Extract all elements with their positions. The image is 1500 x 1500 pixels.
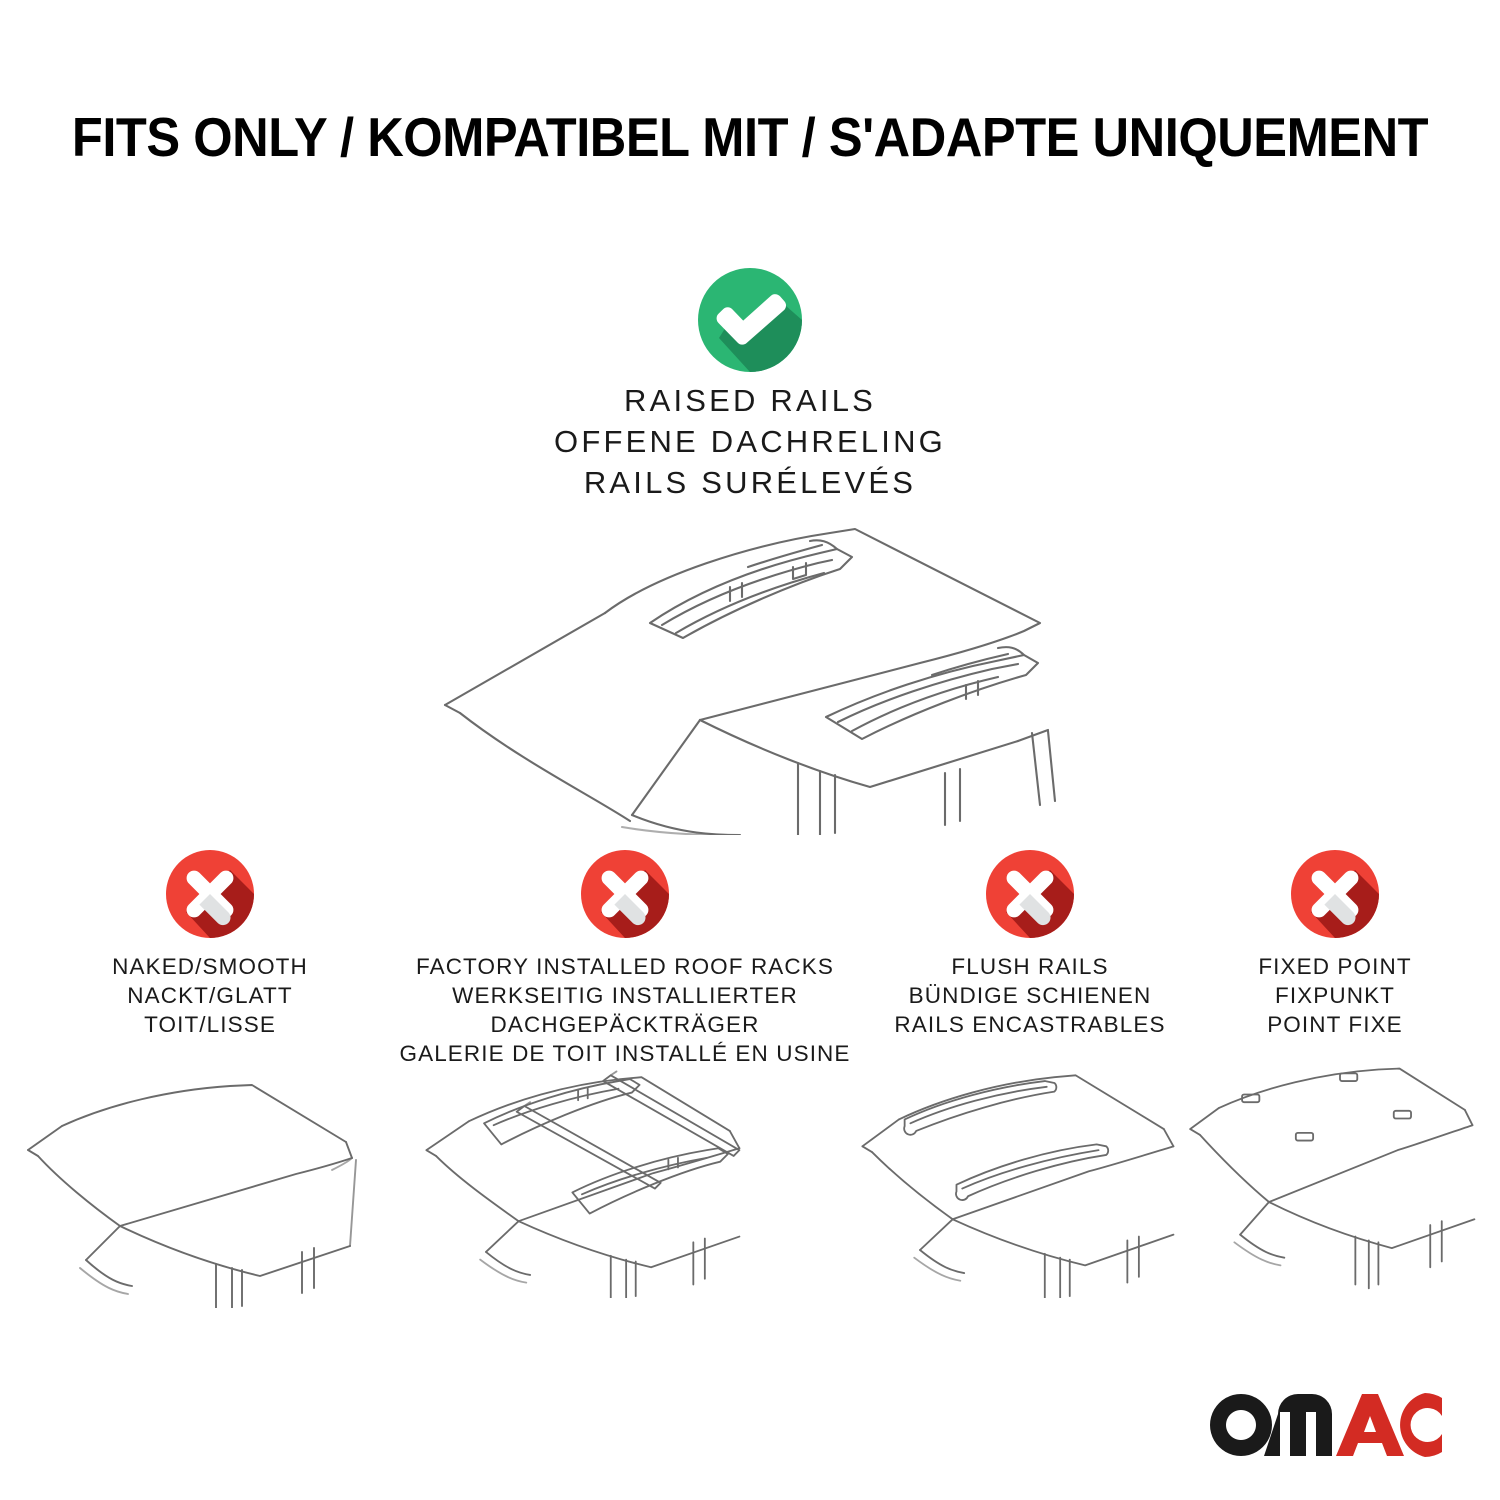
compatible-label: RAISED RAILS OFFENE DACHRELING RAILS SUR… — [0, 380, 1500, 503]
cross-circle-icon — [984, 848, 1076, 940]
compatible-label-line-2: OFFENE DACHRELING — [0, 421, 1500, 462]
option-label-fixed-point: FIXED POINT FIXPUNKT POINT FIXE — [1190, 952, 1480, 1039]
cross-circle-icon — [1289, 848, 1381, 940]
incompatible-option-factory-roof-racks: FACTORY INSTALLED ROOF RACKS WERKSEITIG … — [395, 848, 855, 1068]
incompatible-option-fixed-point: FIXED POINT FIXPUNKT POINT FIXE — [1190, 848, 1480, 1039]
option-label-line-3: TOIT/LISSE — [10, 1010, 410, 1039]
option-label-line-1: FIXED POINT — [1190, 952, 1480, 981]
compatible-label-line-3: RAILS SURÉLEVÉS — [0, 462, 1500, 503]
option-label-line-3: POINT FIXE — [1190, 1010, 1480, 1039]
page-title: FITS ONLY / KOMPATIBEL MIT / S'ADAPTE UN… — [60, 105, 1440, 169]
option-label-line-3: DACHGEPÄCKTRÄGER — [395, 1010, 855, 1039]
option-label-line-2: NACKT/GLATT — [10, 981, 410, 1010]
option-label-line-1: FACTORY INSTALLED ROOF RACKS — [395, 952, 855, 981]
car-roof-with-raised-rails-illustration — [400, 505, 1120, 835]
omac-logo — [1210, 1392, 1442, 1458]
incompatible-option-flush-rails: FLUSH RAILS BÜNDIGE SCHIENEN RAILS ENCAS… — [855, 848, 1205, 1039]
option-label-naked-smooth: NAKED/SMOOTH NACKT/GLATT TOIT/LISSE — [10, 952, 410, 1039]
option-label-line-2: BÜNDIGE SCHIENEN — [855, 981, 1205, 1010]
cross-circle-icon — [164, 848, 256, 940]
option-label-line-3: RAILS ENCASTRABLES — [855, 1010, 1205, 1039]
car-roof-naked-smooth-illustration — [20, 1068, 410, 1308]
option-label-factory-roof-racks: FACTORY INSTALLED ROOF RACKS WERKSEITIG … — [395, 952, 855, 1068]
cross-circle-icon — [579, 848, 671, 940]
option-label-flush-rails: FLUSH RAILS BÜNDIGE SCHIENEN RAILS ENCAS… — [855, 952, 1205, 1039]
option-label-line-2: FIXPUNKT — [1190, 981, 1480, 1010]
car-roof-fixed-point-illustration — [1180, 1058, 1500, 1298]
car-roof-factory-installed-roof-racks-illustration — [405, 1058, 805, 1298]
option-label-line-1: FLUSH RAILS — [855, 952, 1205, 981]
compatible-label-line-1: RAISED RAILS — [0, 380, 1500, 421]
option-label-line-2: WERKSEITIG INSTALLIERTER — [395, 981, 855, 1010]
option-label-line-1: NAKED/SMOOTH — [10, 952, 410, 981]
incompatible-option-naked-smooth: NAKED/SMOOTH NACKT/GLATT TOIT/LISSE — [10, 848, 410, 1039]
check-circle-icon — [695, 265, 805, 375]
car-roof-flush-rails-illustration — [845, 1058, 1235, 1298]
